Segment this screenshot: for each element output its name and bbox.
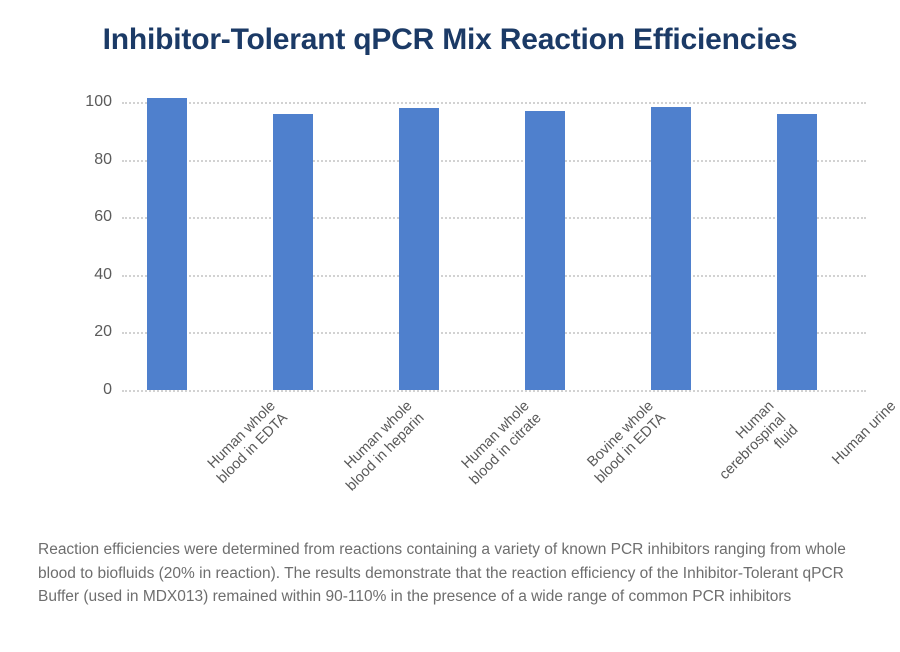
bar[interactable] bbox=[399, 108, 439, 390]
bar[interactable] bbox=[147, 98, 187, 390]
bar[interactable] bbox=[651, 107, 691, 390]
y-tick-label: 40 bbox=[68, 267, 112, 283]
x-tick-label: Humancerebrospinalfluid bbox=[705, 398, 803, 496]
x-tick-label: Human wholeblood in heparin bbox=[331, 398, 428, 495]
x-tick-label: Bovine wholeblood in EDTA bbox=[580, 398, 669, 487]
chart-figure: Inhibitor-Tolerant qPCR Mix Reaction Eff… bbox=[0, 0, 900, 652]
gridline bbox=[122, 102, 866, 104]
bar[interactable] bbox=[525, 111, 565, 390]
bar[interactable] bbox=[777, 114, 817, 390]
x-tick-label-line: Human urine bbox=[829, 398, 900, 469]
chart-title: Inhibitor-Tolerant qPCR Mix Reaction Eff… bbox=[0, 23, 900, 57]
figure-caption: Reaction efficiencies were determined fr… bbox=[38, 538, 868, 609]
y-axis-tick-labels: 020406080100 bbox=[62, 102, 112, 390]
x-tick-label: Human urine bbox=[829, 398, 900, 469]
y-tick-label: 20 bbox=[68, 324, 112, 340]
x-tick-label: Human wholeblood in EDTA bbox=[202, 398, 291, 487]
y-tick-label: 80 bbox=[68, 152, 112, 168]
gridline bbox=[122, 275, 866, 277]
bar[interactable] bbox=[273, 114, 313, 390]
x-axis-tick-labels: Human wholeblood in EDTAHuman wholeblood… bbox=[0, 390, 900, 520]
x-tick-label: Human wholeblood in citrate bbox=[455, 398, 546, 489]
y-tick-label: 60 bbox=[68, 209, 112, 225]
gridline bbox=[122, 160, 866, 162]
plot-area bbox=[122, 102, 866, 390]
y-tick-label: 100 bbox=[68, 94, 112, 110]
gridline bbox=[122, 217, 866, 219]
gridline bbox=[122, 332, 866, 334]
